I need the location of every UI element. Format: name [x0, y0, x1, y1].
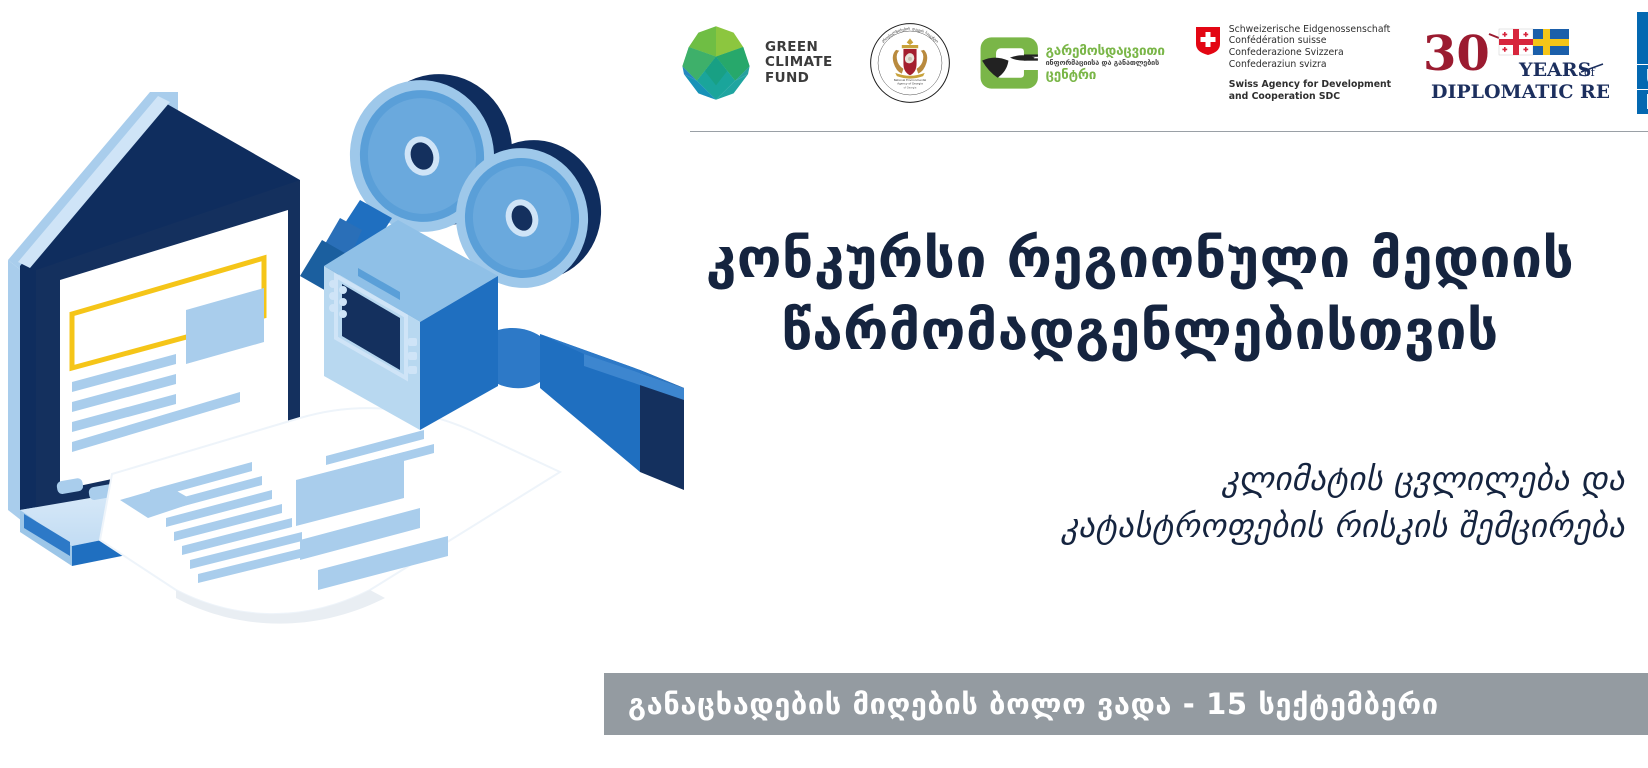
- subtitle-line1: კლიმატის ცვლილება და: [1222, 459, 1625, 498]
- gcf-line3: FUND: [765, 71, 833, 87]
- gcf-globe-icon: [676, 23, 756, 103]
- sdc-line1: Schweizerische Eidgenossenschaft: [1229, 24, 1391, 36]
- sdc-line2: Confédération suisse: [1229, 35, 1391, 47]
- swiss-cross-shield-icon: [1195, 26, 1221, 56]
- gcf-wordmark: GREEN CLIMATE FUND: [765, 40, 833, 87]
- svg-text:30: 30: [1423, 26, 1490, 82]
- svg-text:Agency of Georgia: Agency of Georgia: [897, 82, 923, 86]
- gcf-line1: GREEN: [765, 40, 833, 56]
- diplomatic-relations-mark: 30: [1421, 24, 1609, 102]
- headline-line2: წარმომადგენლებისთვის: [660, 294, 1620, 366]
- svg-text:of Georgia: of Georgia: [903, 85, 916, 89]
- georgia-flag-icon: [1499, 29, 1533, 55]
- eiec-line2: ინფორმაციისა და განათლების: [1046, 58, 1165, 68]
- gcf-line2: CLIMATE: [765, 55, 833, 71]
- page-subtitle: კლიმატის ცვლილება და კატასტროფების რისკი…: [640, 455, 1643, 549]
- partner-logo-strip: GREEN CLIMATE FUND ეროვნული გარემოს დაცვ…: [676, 8, 1648, 118]
- eiec-line1: გარემოსდაცვითი: [1046, 45, 1165, 58]
- eiec-mark-icon: [979, 34, 1041, 92]
- page-title: კონკურსი რეგიონული მედიის წარმომადგენლებ…: [660, 222, 1620, 366]
- sweden-flag-icon: [1533, 29, 1569, 55]
- sdc-line6: and Cooperation SDC: [1229, 91, 1391, 103]
- illustration-laptop-newspaper-camera: [0, 70, 700, 650]
- eiec-wordmark: გარემოსდაცვითი ინფორმაციისა და განათლები…: [1046, 45, 1165, 82]
- logo-green-climate-fund: GREEN CLIMATE FUND: [676, 23, 833, 103]
- headline-line1: კონკურსი რეგიონული მედიის: [706, 226, 1575, 290]
- logo-30-years-diplomatic-relations: 30: [1421, 24, 1609, 102]
- eiec-line3: ცენტრი: [1046, 68, 1165, 82]
- georgia-emblem-icon: ეროვნული გარემოს დაცვის სააგენტო Nationa…: [869, 22, 951, 104]
- diplomatic-relations-text: DIPLOMATIC RELATIONS: [1431, 81, 1609, 102]
- sdc-wordmark: Schweizerische Eidgenossenschaft Confédé…: [1229, 24, 1391, 103]
- undp-mark-icon: U N D P: [1637, 12, 1648, 114]
- sdc-line5: Swiss Agency for Development: [1229, 79, 1391, 91]
- diplomatic-years-text: YEARS: [1518, 59, 1591, 81]
- deadline-text: განაცხადების მიღების ბოლო ვადა - 15 სექტ…: [628, 687, 1439, 721]
- logo-undp: U N D P: [1637, 12, 1648, 114]
- poster-root: GREEN CLIMATE FUND ეროვნული გარემოს დაცვ…: [0, 0, 1648, 768]
- logo-swiss-sdc: Schweizerische Eidgenossenschaft Confédé…: [1195, 24, 1391, 103]
- sdc-line3: Confederazione Svizzera: [1229, 47, 1391, 59]
- deadline-bar: განაცხადების მიღების ბოლო ვადა - 15 სექტ…: [604, 673, 1648, 735]
- sdc-line4: Confederaziun svizra: [1229, 59, 1391, 71]
- logo-georgia-national-emblem: ეროვნული გარემოს დაცვის სააგენტო Nationa…: [869, 22, 951, 104]
- header-divider: [690, 131, 1648, 132]
- logo-environmental-info-education-centre: გარემოსდაცვითი ინფორმაციისა და განათლები…: [979, 34, 1165, 92]
- subtitle-line2: კატასტროფების რისკის შემცირება: [640, 502, 1625, 549]
